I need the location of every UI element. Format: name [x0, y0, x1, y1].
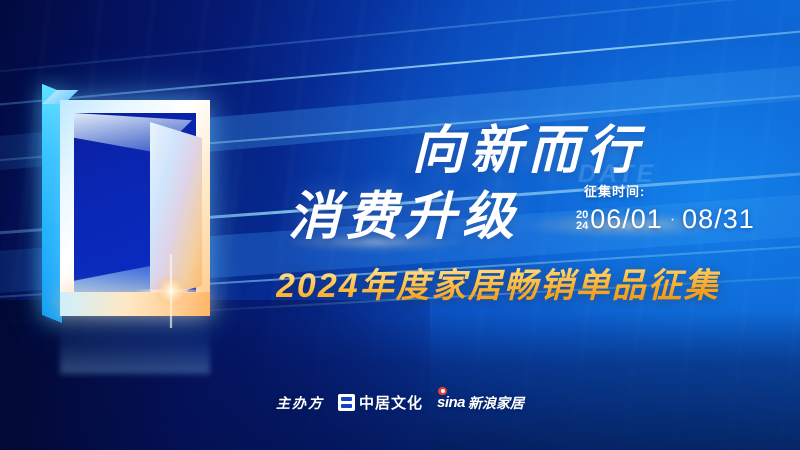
promo-banner: 向新而行 消费升级 DATE 征集时间: 20 24 06/01 · 08/31…: [0, 0, 800, 450]
door-reflection: [60, 318, 210, 374]
date-start: 06/01: [590, 204, 663, 235]
portal-door-illustration: [42, 92, 232, 342]
date-year-top: 20: [576, 210, 588, 221]
zhongju-logo-icon: [338, 394, 355, 411]
date-label: 征集时间:: [584, 181, 645, 200]
headline-secondary: 消费升级: [288, 174, 520, 249]
star-flare-icon: [134, 254, 208, 328]
date-range-row: 20 24 06/01 · 08/31: [576, 204, 755, 235]
date-year-bottom: 24: [576, 221, 588, 232]
sina-wordmark: sina: [437, 394, 465, 411]
brand-zhongju-label: 中居文化: [359, 392, 423, 413]
sina-logo-icon: sina: [437, 394, 465, 411]
light-streak: [0, 0, 800, 87]
brand-sina-home: sina 新浪家居: [437, 393, 524, 413]
footer-sponsors: 主办方 中居文化 sina 新浪家居: [0, 392, 800, 413]
star-flare-core: [156, 276, 186, 306]
door-side-slab: [42, 84, 62, 323]
brand-sina-home-label: 新浪家居: [468, 393, 524, 413]
sina-eye-icon: [438, 387, 447, 395]
brand-zhongju: 中居文化: [338, 392, 423, 413]
organizer-label: 主办方: [276, 393, 324, 413]
date-year-stack: 20 24: [576, 210, 588, 232]
date-end: 08/31: [682, 204, 755, 235]
subtitle-gold: 2024年度家居畅销单品征集: [276, 258, 720, 307]
date-separator-icon: ·: [670, 211, 675, 229]
